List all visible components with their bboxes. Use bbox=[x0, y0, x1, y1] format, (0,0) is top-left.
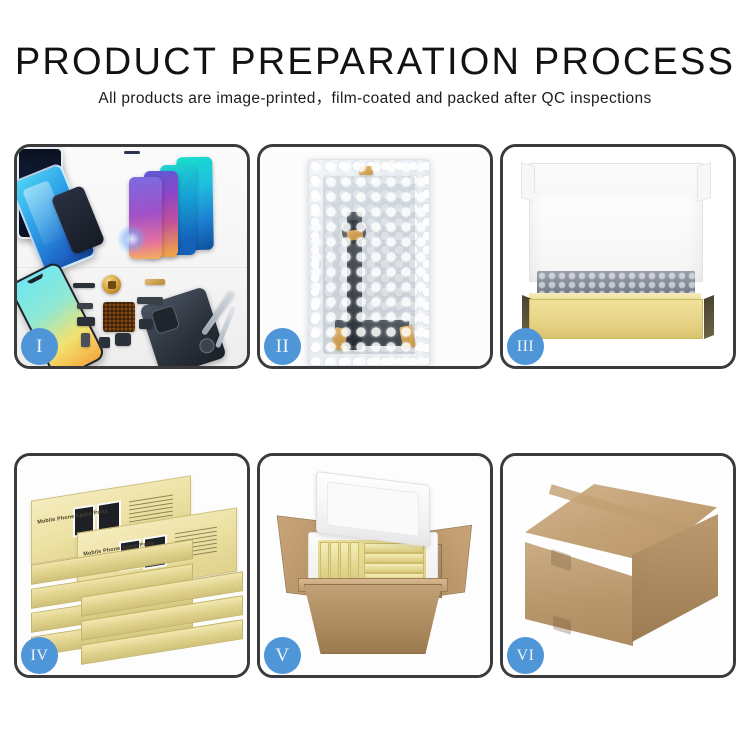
process-step-panel-2[interactable]: II bbox=[257, 144, 493, 369]
process-step-grid: I II bbox=[14, 144, 736, 678]
process-step-panel-6[interactable]: VI bbox=[500, 453, 736, 678]
step-badge-2: II bbox=[264, 328, 301, 365]
gold-connector bbox=[145, 279, 165, 285]
packed-box-7 bbox=[364, 563, 424, 573]
step-badge-4: IV bbox=[21, 637, 58, 674]
small-part-strip bbox=[73, 283, 95, 288]
packed-box-6 bbox=[364, 553, 424, 563]
page-title: PRODUCT PREPARATION PROCESS bbox=[0, 40, 750, 84]
step-badge-3: III bbox=[507, 328, 544, 365]
step-badge-1: I bbox=[21, 328, 58, 365]
bubble-wrap-bag bbox=[308, 159, 430, 366]
small-part-speaker bbox=[115, 333, 131, 346]
box-stack: Mobile Phone Spare Parts Mobile Phone Sp… bbox=[25, 480, 239, 662]
bubble-texture-overlay bbox=[309, 160, 429, 365]
white-foam-sheet bbox=[533, 193, 697, 279]
vibration-motor-part bbox=[102, 275, 121, 294]
box-front-wall bbox=[529, 299, 703, 339]
step-badge-6: VI bbox=[507, 637, 544, 674]
small-part-block bbox=[77, 317, 95, 326]
small-part-sim-tray bbox=[81, 333, 90, 347]
carton-left-face bbox=[525, 542, 633, 646]
small-part-button bbox=[99, 337, 110, 348]
step-badge-5: V bbox=[264, 637, 301, 674]
small-part-camera bbox=[139, 319, 153, 329]
logic-board-chip bbox=[103, 302, 135, 332]
flex-cable-2 bbox=[77, 303, 93, 309]
process-step-panel-3[interactable]: III bbox=[500, 144, 736, 369]
process-step-panel-1[interactable]: I bbox=[14, 144, 250, 369]
packed-box-2 bbox=[330, 542, 339, 582]
flex-cable-1 bbox=[137, 297, 163, 304]
product-preparation-infographic: PRODUCT PREPARATION PROCESS All products… bbox=[0, 0, 750, 750]
page-subtitle: All products are image-printed，film-coat… bbox=[0, 88, 750, 110]
packed-yellow-boxes bbox=[318, 540, 426, 582]
process-step-panel-5[interactable]: V bbox=[257, 453, 493, 678]
packed-box-4 bbox=[350, 542, 359, 582]
carton-front-wall bbox=[304, 584, 442, 654]
packed-box-1 bbox=[320, 542, 329, 582]
process-step-panel-4[interactable]: Mobile Phone Spare Parts Mobile Phone Sp… bbox=[14, 453, 250, 678]
box-right-corner bbox=[704, 295, 714, 339]
packed-box-3 bbox=[340, 542, 349, 582]
